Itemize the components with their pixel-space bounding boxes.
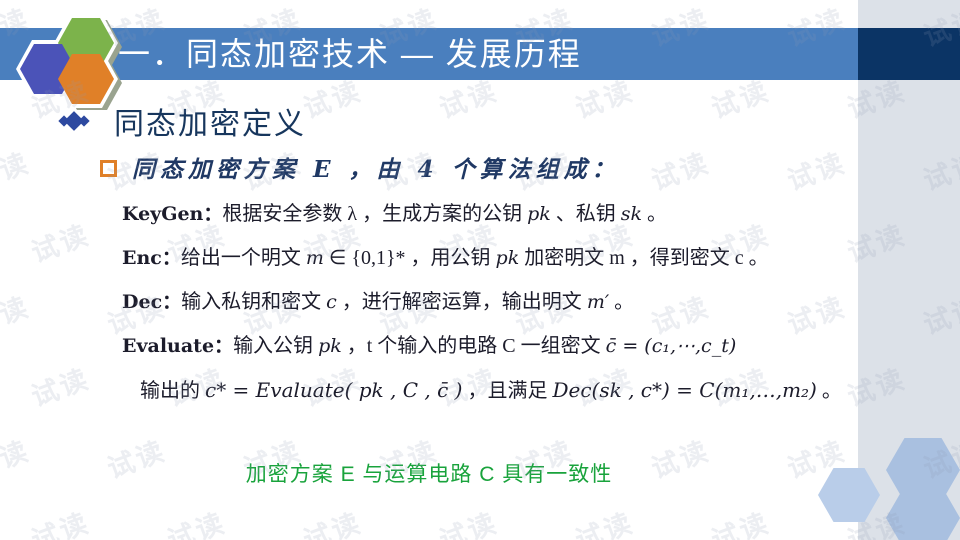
algorithm-var-2: m′ — [587, 291, 609, 313]
algorithm-line-evaluate: Evaluate：输入公钥 pk ，t 个输入的电路 C 一组密文 c̄ = (… — [0, 324, 858, 368]
algorithm-mid: ，进行解密运算，输出明文 — [337, 291, 587, 313]
formula-suffix: 。 — [817, 380, 842, 402]
algorithm-tail: = (c₁,⋯,c_t) — [616, 335, 736, 357]
conclusion-text: 加密方案 E 与运算电路 C 具有一致性 — [0, 458, 858, 488]
algorithm-mid: ∈ {0,1}* ，用公钥 — [324, 247, 496, 269]
algorithm-separator: ： — [203, 203, 222, 225]
algorithm-line-keygen: KeyGen：根据安全参数 λ ，生成方案的公钥 pk 、私钥 sk 。 — [0, 192, 858, 236]
formula-line: 输出的 c* = Evaluate( pk , C , c̄ ) ，且满足 De… — [0, 368, 858, 412]
algorithm-var-2: c̄ — [606, 335, 617, 357]
title-banner-cap — [858, 28, 960, 80]
formula-expression-2: Dec(sk , c*) = C(m₁,…,m₂) — [552, 378, 816, 402]
section-heading-label: 同态加密定义 — [114, 99, 306, 143]
algorithm-line-enc: Enc：给出一个明文 m ∈ {0,1}* ，用公钥 pk 加密明文 m ，得到… — [0, 236, 858, 280]
diamond-bullet-icon — [62, 110, 88, 132]
algorithm-tail: 。 — [642, 203, 667, 225]
algorithm-tail: 。 — [609, 291, 634, 313]
watermark-text: 试读 — [433, 501, 503, 540]
algorithm-var-1: c — [326, 291, 337, 313]
algorithm-tail: 加密明文 m ，得到密文 c 。 — [519, 247, 768, 269]
algorithm-var-2: sk — [621, 203, 642, 225]
algorithm-mid: ，t 个输入的电路 C 一组密文 — [342, 335, 606, 357]
watermark-text: 试读 — [161, 501, 231, 540]
algorithm-name: Dec — [122, 291, 162, 313]
square-bullet-icon — [100, 160, 117, 177]
bullet-row: 同态加密方案 E ，由 4 个算法组成： — [0, 150, 858, 192]
algorithm-var-1: pk — [318, 335, 342, 357]
algorithm-var-2: pk — [496, 247, 520, 269]
algorithm-name: Evaluate — [122, 335, 214, 357]
algorithm-var-1: m — [306, 247, 324, 269]
section-heading: 同态加密定义 — [62, 96, 306, 146]
formula-middle: ，且满足 — [462, 380, 552, 402]
algorithm-mid: 、私钥 — [551, 203, 621, 225]
bullet-text: 同态加密方案 E ，由 4 个算法组成： — [132, 156, 620, 183]
algorithm-body: 根据安全参数 λ ，生成方案的公钥 — [222, 203, 527, 225]
hexagon-decoration-icon — [886, 486, 960, 540]
formula-prefix: 输出的 — [140, 380, 205, 402]
watermark-text: 试读 — [297, 501, 367, 540]
content-body: 同态加密方案 E ，由 4 个算法组成： KeyGen：根据安全参数 λ ，生成… — [0, 150, 858, 412]
algorithm-body: 输入公钥 — [233, 335, 318, 357]
logo — [14, 16, 126, 102]
algorithm-name: Enc — [122, 247, 162, 269]
right-decorative-panel — [858, 0, 960, 540]
slide-canvas: 一．同态加密技术 — 发展历程 同态加密定义 同态加密方案 E ，由 4 个算法… — [0, 0, 960, 540]
watermark-text: 试读 — [705, 501, 775, 540]
algorithm-var-1: pk — [527, 203, 551, 225]
algorithm-body: 给出一个明文 — [181, 247, 306, 269]
watermark-text: 试读 — [569, 501, 639, 540]
algorithm-body: 输入私钥和密文 — [181, 291, 326, 313]
algorithm-separator: ： — [214, 335, 233, 357]
watermark-text: 试读 — [25, 501, 95, 540]
formula-expression-1: c* = Evaluate( pk , C , c̄ ) — [205, 378, 462, 402]
algorithm-separator: ： — [162, 247, 181, 269]
page-title: 一．同态加密技术 — 发展历程 — [118, 28, 838, 80]
algorithm-name: KeyGen — [122, 203, 203, 225]
algorithm-line-dec: Dec：输入私钥和密文 c ，进行解密运算，输出明文 m′ 。 — [0, 280, 858, 324]
algorithm-separator: ： — [162, 291, 181, 313]
